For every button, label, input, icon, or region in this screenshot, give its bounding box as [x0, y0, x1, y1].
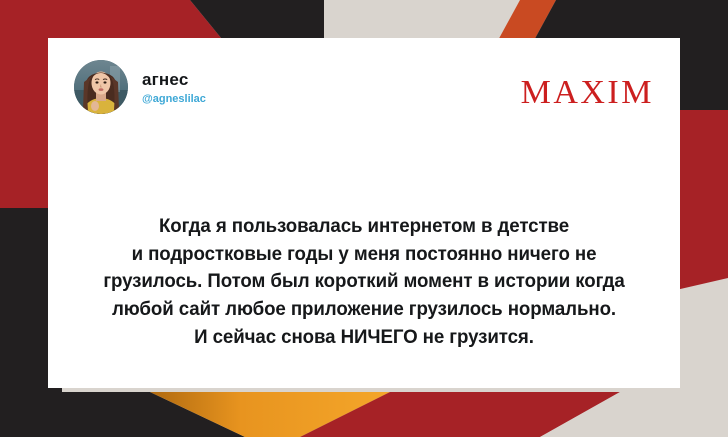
tweet-line: грузилось. Потом был короткий момент в и… — [84, 268, 645, 296]
maxim-logo: MAXIM — [521, 60, 654, 110]
tweet-card-header: агнес @agneslilac MAXIM — [74, 60, 654, 132]
tweet-line: И сейчас снова НИЧЕГО не грузится. — [84, 324, 645, 352]
tweet-card: агнес @agneslilac MAXIM Когда я пользова… — [48, 38, 680, 388]
tweet-line: и подростковые годы у меня постоянно нич… — [84, 241, 645, 269]
tweet-line: Когда я пользовалась интернетом в детств… — [84, 213, 645, 241]
avatar-photo-young-woman — [74, 60, 128, 114]
bg-shape-right-red — [676, 110, 728, 300]
author-text: агнес @agneslilac — [142, 69, 206, 105]
avatar[interactable] — [74, 60, 128, 114]
author-handle[interactable]: @agneslilac — [142, 93, 206, 105]
tweet-text: Когда я пользовалась интернетом в детств… — [72, 213, 656, 351]
author-block[interactable]: агнес @agneslilac — [74, 60, 206, 114]
author-display-name: агнес — [142, 71, 206, 90]
meme-image-canvas: агнес @agneslilac MAXIM Когда я пользова… — [0, 0, 728, 437]
tweet-line: любой сайт любое приложение грузилось но… — [84, 296, 645, 324]
